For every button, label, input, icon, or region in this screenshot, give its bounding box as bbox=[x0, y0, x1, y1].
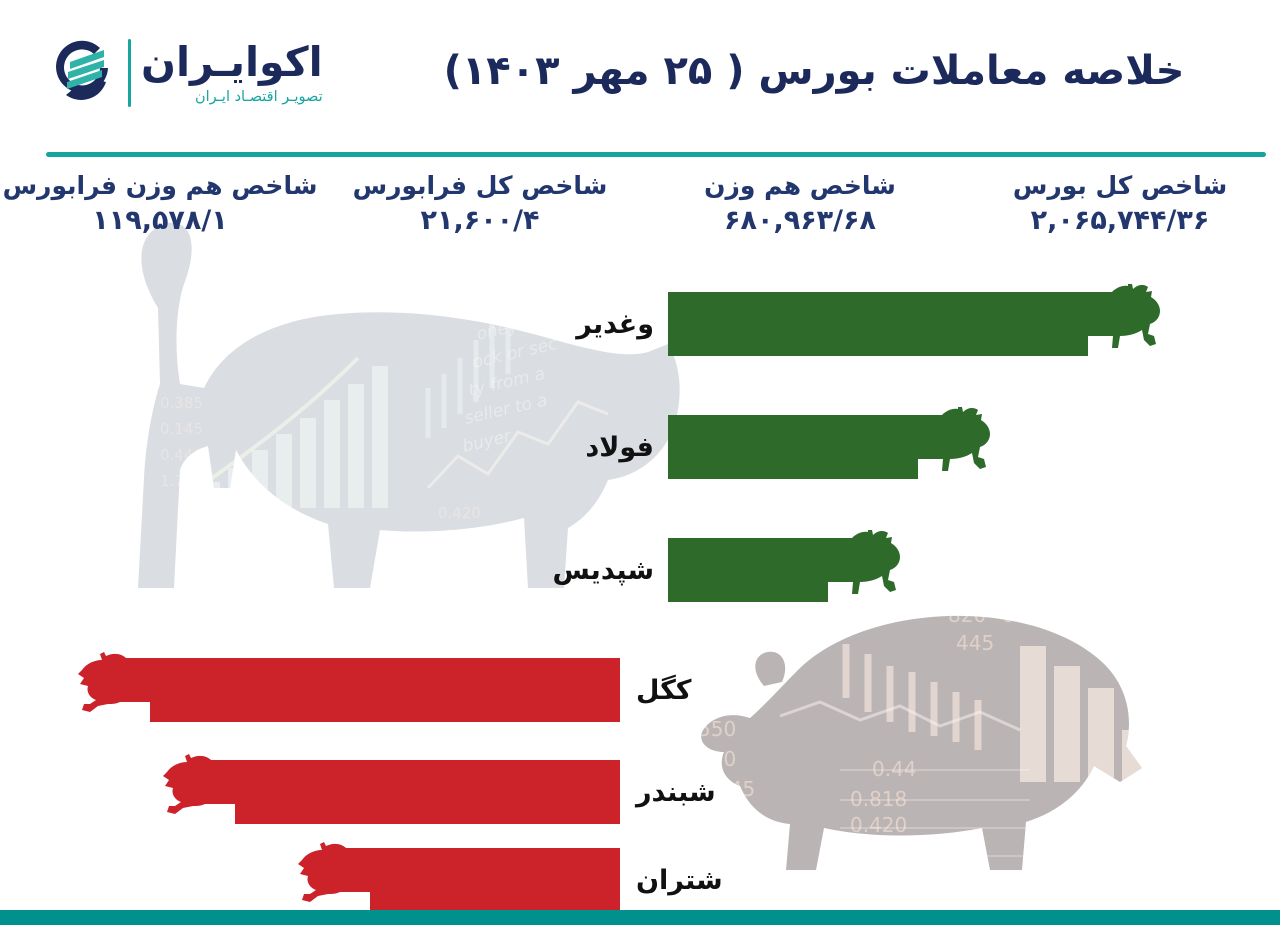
impact-bar-chart: وغدیر فولاد شپدیس bbox=[0, 262, 1280, 912]
chart-row-gainer: فولاد bbox=[668, 407, 990, 487]
chart-row-gainer: شپدیس bbox=[668, 530, 900, 610]
bar-gain bbox=[668, 415, 918, 479]
chart-row-loser: شتران bbox=[298, 840, 620, 920]
page-title: خلاصه معاملات بورس ( ۲۵ مهر ۱۴۰۳) bbox=[404, 48, 1224, 94]
index-label: شاخص هم وزن فرابورس bbox=[0, 170, 320, 201]
brand-name: اکوایـران bbox=[141, 41, 323, 84]
brand-tagline: تصویـر اقتصـاد ایـران bbox=[195, 89, 323, 105]
bar-gain bbox=[668, 538, 828, 602]
brand-logo[interactable]: اکوایـران تصویـر اقتصـاد ایـران bbox=[48, 38, 323, 108]
index-value: ۲,۰۶۵,۷۴۴/۳۶ bbox=[960, 205, 1280, 236]
bear-icon bbox=[78, 650, 156, 730]
bar-label: وغدیر bbox=[576, 309, 654, 340]
bull-icon bbox=[1082, 284, 1160, 364]
footer-accent-bar bbox=[0, 910, 1280, 925]
bar-loss bbox=[235, 760, 620, 824]
chart-row-loser: شبندر bbox=[163, 752, 620, 832]
bar-label: فولاد bbox=[585, 432, 654, 463]
infographic-canvas: 0.385 0.145 0.440 1.78 0.420 245 335 ark… bbox=[0, 0, 1280, 937]
eco-iran-swoosh-logo-icon bbox=[48, 38, 118, 108]
chart-row-gainer: وغدیر bbox=[668, 284, 1160, 364]
bull-icon bbox=[912, 407, 990, 487]
header: اکوایـران تصویـر اقتصـاد ایـران خلاصه مع… bbox=[0, 0, 1280, 155]
bar-label: شپدیس bbox=[553, 555, 654, 586]
bar-loss bbox=[150, 658, 620, 722]
index-card-total-exchange: شاخص کل بورس ۲,۰۶۵,۷۴۴/۳۶ bbox=[960, 170, 1280, 262]
chart-row-loser: کگل bbox=[78, 650, 620, 730]
index-card-total-otc: شاخص کل فرابورس ۲۱,۶۰۰/۴ bbox=[320, 170, 640, 262]
index-card-equal-weight: شاخص هم وزن ۶۸۰,۹۶۳/۶۸ bbox=[640, 170, 960, 262]
index-label: شاخص هم وزن bbox=[640, 170, 960, 201]
index-value: ۶۸۰,۹۶۳/۶۸ bbox=[640, 205, 960, 236]
bar-label: شتران bbox=[636, 865, 723, 896]
bar-label: کگل bbox=[636, 675, 692, 706]
bear-icon bbox=[298, 840, 376, 920]
index-label: شاخص کل بورس bbox=[960, 170, 1280, 201]
index-summary-row: شاخص هم وزن فرابورس ۱۱۹,۵۷۸/۱ شاخص کل فر… bbox=[0, 170, 1280, 262]
header-divider bbox=[46, 152, 1266, 157]
index-value: ۱۱۹,۵۷۸/۱ bbox=[0, 205, 320, 236]
index-card-equal-weight-otc: شاخص هم وزن فرابورس ۱۱۹,۵۷۸/۱ bbox=[0, 170, 320, 262]
index-label: شاخص کل فرابورس bbox=[320, 170, 640, 201]
bull-icon bbox=[822, 530, 900, 610]
index-value: ۲۱,۶۰۰/۴ bbox=[320, 205, 640, 236]
logo-divider bbox=[128, 39, 131, 107]
bear-icon bbox=[163, 752, 241, 832]
bar-gain bbox=[668, 292, 1088, 356]
bar-loss bbox=[370, 848, 620, 912]
bar-label: شبندر bbox=[636, 777, 716, 808]
